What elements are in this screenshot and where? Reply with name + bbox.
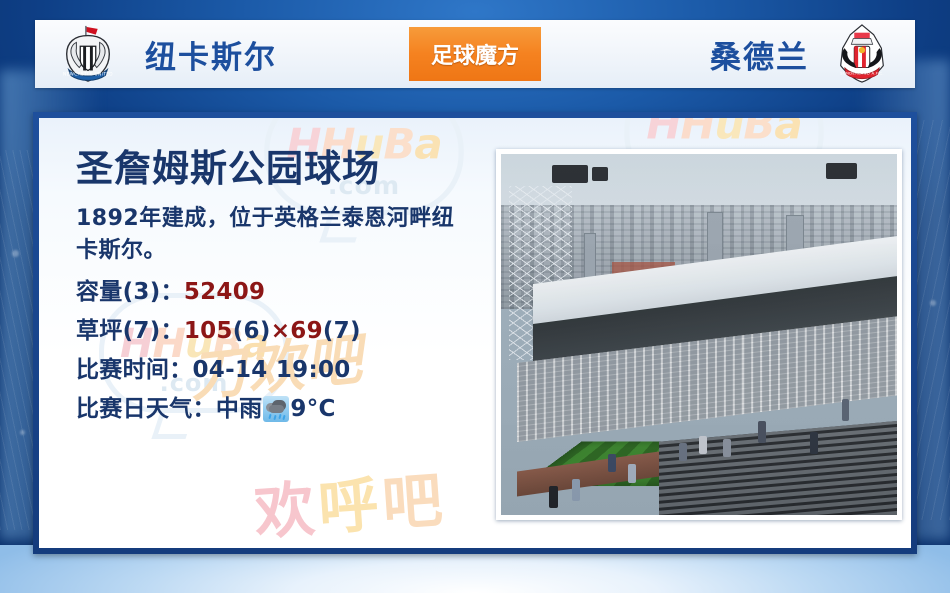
photo-speaker-block xyxy=(592,167,608,181)
capacity-label: 容量(3)： xyxy=(76,279,184,305)
match-header-bar: NEWCASTLE UNITED 纽卡斯尔 足球魔方 桑德兰 SUNDERLAN… xyxy=(35,20,915,88)
capacity-row: 容量(3)：52409 xyxy=(76,273,496,312)
svg-text:NEWCASTLE UNITED: NEWCASTLE UNITED xyxy=(63,71,113,77)
match-time-label: 比赛时间： xyxy=(76,357,193,383)
temperature-value: 9°C xyxy=(290,396,335,422)
background-bokeh-dot xyxy=(20,430,25,435)
photo-spectator xyxy=(723,439,731,457)
match-weather-row: 比赛日天气：中雨 9°C xyxy=(76,390,496,429)
match-weather-value: 中雨 xyxy=(216,396,263,422)
photo-spectator xyxy=(549,486,559,508)
home-team-block[interactable]: NEWCASTLE UNITED 纽卡斯尔 xyxy=(35,20,409,88)
stadium-photo: NEWCASTLE UNITED xyxy=(501,154,897,515)
stadium-info-card-inner: HHuBa .com HHuBa .com HHuBa .com 欢呼吧 刀欢吧 xyxy=(39,118,911,548)
stadium-description: 1892年建成，位于英格兰泰恩河畔纽卡斯尔。 xyxy=(76,203,468,267)
site-logo-text: 足球魔方 xyxy=(431,38,519,70)
background-bokeh-dot xyxy=(930,300,936,306)
away-team-name: 桑德兰 xyxy=(710,32,809,77)
sunderland-afc-crest: SUNDERLAND A.F.C. xyxy=(831,23,893,85)
home-team-name: 纽卡斯尔 xyxy=(145,32,277,77)
away-team-block[interactable]: 桑德兰 SUNDERLAND A.F.C. xyxy=(541,20,915,88)
watermark-cheer: 欢呼吧 xyxy=(251,451,449,548)
photo-spectator xyxy=(628,464,636,482)
photo-spectator xyxy=(810,432,818,454)
stadium-info-column: 圣詹姆斯公园球场 1892年建成，位于英格兰泰恩河畔纽卡斯尔。 容量(3)：52… xyxy=(76,150,496,429)
photo-spectator xyxy=(758,421,766,443)
stadium-info-card: HHuBa .com HHuBa .com HHuBa .com 欢呼吧 刀欢吧 xyxy=(33,112,917,554)
pitch-length-rank: (6) xyxy=(233,318,271,344)
stadium-title: 圣詹姆斯公园球场 xyxy=(76,150,496,189)
pitch-size-row: 草坪(7)：105(6)×69(7) xyxy=(76,312,496,351)
moderate-rain-icon xyxy=(263,396,289,422)
match-time-value: 04-14 19:00 xyxy=(193,357,351,383)
svg-text:SUNDERLAND A.F.C.: SUNDERLAND A.F.C. xyxy=(840,70,884,75)
background-bokeh-dot xyxy=(12,250,19,257)
pitch-label: 草坪(7)： xyxy=(76,318,184,344)
pitch-width-value: 69 xyxy=(290,318,323,344)
pitch-width-rank: (7) xyxy=(323,318,361,344)
photo-spectator xyxy=(842,399,850,421)
pitch-length-value: 105 xyxy=(184,318,233,344)
photo-spectator xyxy=(699,436,707,454)
newcastle-united-crest: NEWCASTLE UNITED xyxy=(57,23,119,85)
photo-speaker-block xyxy=(826,163,858,179)
photo-lower-seats xyxy=(659,421,897,515)
photo-spectator xyxy=(608,454,616,472)
photo-spectator xyxy=(572,479,580,501)
stadium-photo-frame[interactable]: NEWCASTLE UNITED xyxy=(496,149,902,520)
capacity-value: 52409 xyxy=(184,279,266,305)
match-time-row: 比赛时间：04-14 19:00 xyxy=(76,351,496,390)
site-logo[interactable]: 足球魔方 xyxy=(409,27,541,81)
photo-spectator xyxy=(679,443,687,461)
photo-speaker-block xyxy=(552,165,588,183)
pitch-size-separator: × xyxy=(271,318,291,344)
match-weather-label: 比赛日天气： xyxy=(76,396,216,422)
